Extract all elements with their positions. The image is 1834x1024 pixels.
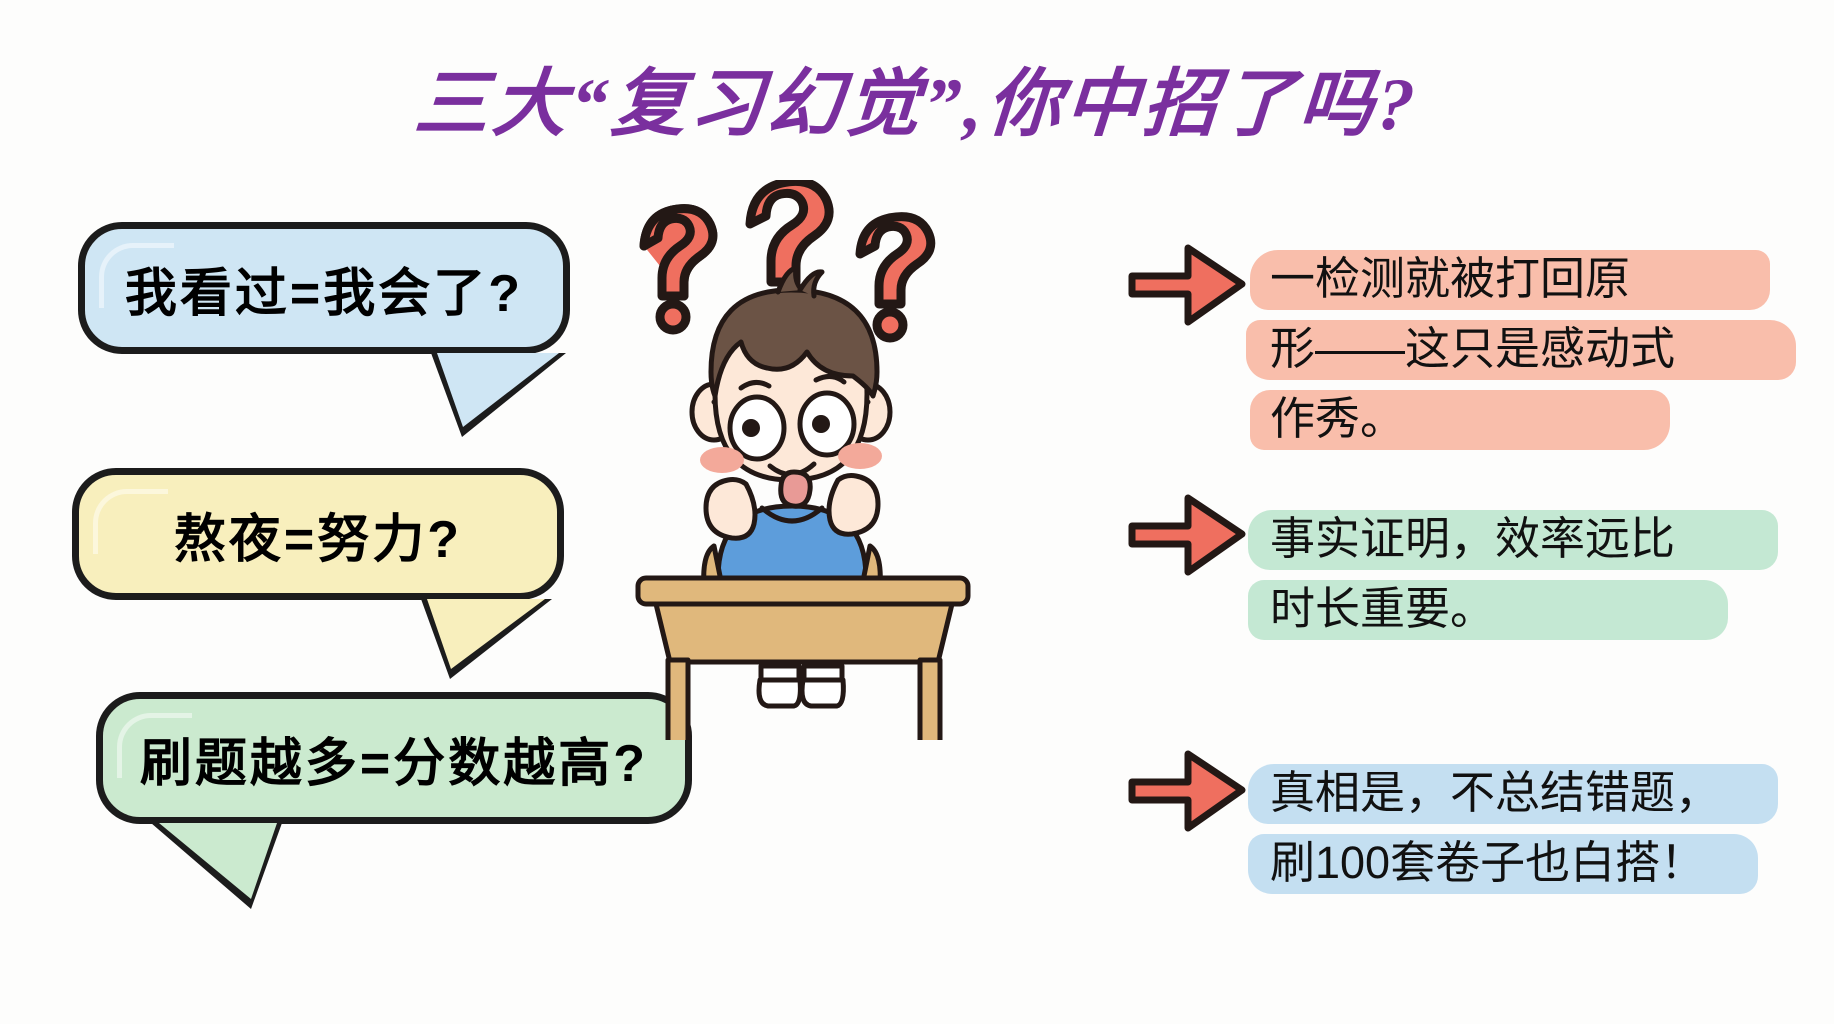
question-mark-icon-left (644, 209, 713, 330)
boy-tongue (781, 472, 810, 506)
annotation-note-3-line-1-text: 真相是，不总结错题， (1270, 767, 1720, 818)
question-mark-icon-right (860, 217, 931, 338)
annotation-note-3: 真相是，不总结错题， 刷100套卷子也白搭！ (1256, 752, 1756, 904)
annotation-note-1-line-1: 一检测就被打回原 (1256, 244, 1756, 314)
annotation-note-2-line-1: 事实证明，效率远比 (1256, 504, 1756, 574)
annotation-note-1-line-3: 作秀。 (1256, 384, 1756, 454)
boy-hand-right (829, 476, 878, 535)
speech-bubble-1: 我看过=我会了? (78, 222, 570, 354)
annotation-note-1-line-1-text: 一检测就被打回原 (1270, 253, 1630, 304)
annotation-note-3-line-2-text: 刷100套卷子也白搭！ (1270, 837, 1705, 888)
speech-bubble-2-tail (427, 599, 545, 669)
annotation-note-2-line-2: 时长重要。 (1256, 574, 1756, 644)
annotation-note-1-line-2-text: 形——这只是感动式 (1270, 323, 1675, 374)
annotation-note-1-line-3-text: 作秀。 (1270, 393, 1405, 444)
speech-bubble-3-text: 刷题越多=分数越高? (103, 721, 685, 796)
annotation-note-2-line-1-text: 事实证明，效率远比 (1270, 513, 1675, 564)
boy-hand-left (706, 480, 755, 539)
speech-bubble-3: 刷题越多=分数越高? (96, 692, 692, 824)
speech-bubble-2: 熬夜=努力? (72, 468, 564, 600)
desk-leg-left (668, 660, 688, 740)
arrow-to-note-1 (1128, 242, 1246, 328)
arrow-to-note-2 (1128, 492, 1246, 578)
poster-canvas: 三大“复习幻觉”,你中招了吗? 我看过=我会了? 熬夜=努力? 刷题越多=分数越… (0, 0, 1834, 1024)
annotation-note-1-line-2: 形——这只是感动式 (1256, 314, 1756, 384)
boy-cheek-left (700, 447, 744, 473)
boy-cheek-right (838, 443, 882, 469)
annotation-note-3-line-1: 真相是，不总结错题， (1256, 758, 1756, 828)
speech-bubble-1-text: 我看过=我会了? (85, 251, 563, 326)
speech-bubble-1-tail (437, 353, 559, 427)
speech-bubble-2-text: 熬夜=努力? (79, 497, 557, 572)
annotation-note-1: 一检测就被打回原 形——这只是感动式 作秀。 (1256, 238, 1756, 460)
page-title: 三大“复习幻觉”,你中招了吗? (0, 44, 1834, 151)
annotation-note-3-line-2: 刷100套卷子也白搭！ (1256, 828, 1756, 898)
desk-leg-right (920, 660, 940, 740)
arrow-to-note-3 (1128, 748, 1246, 834)
desk-drawer (656, 604, 952, 662)
desk-top (638, 578, 968, 604)
annotation-note-2-line-2-text: 时长重要。 (1270, 583, 1495, 634)
confused-boy-illustration (610, 180, 1030, 740)
annotation-note-2: 事实证明，效率远比 时长重要。 (1256, 498, 1756, 650)
school-desk (638, 578, 968, 740)
speech-bubble-3-tail (159, 823, 277, 899)
